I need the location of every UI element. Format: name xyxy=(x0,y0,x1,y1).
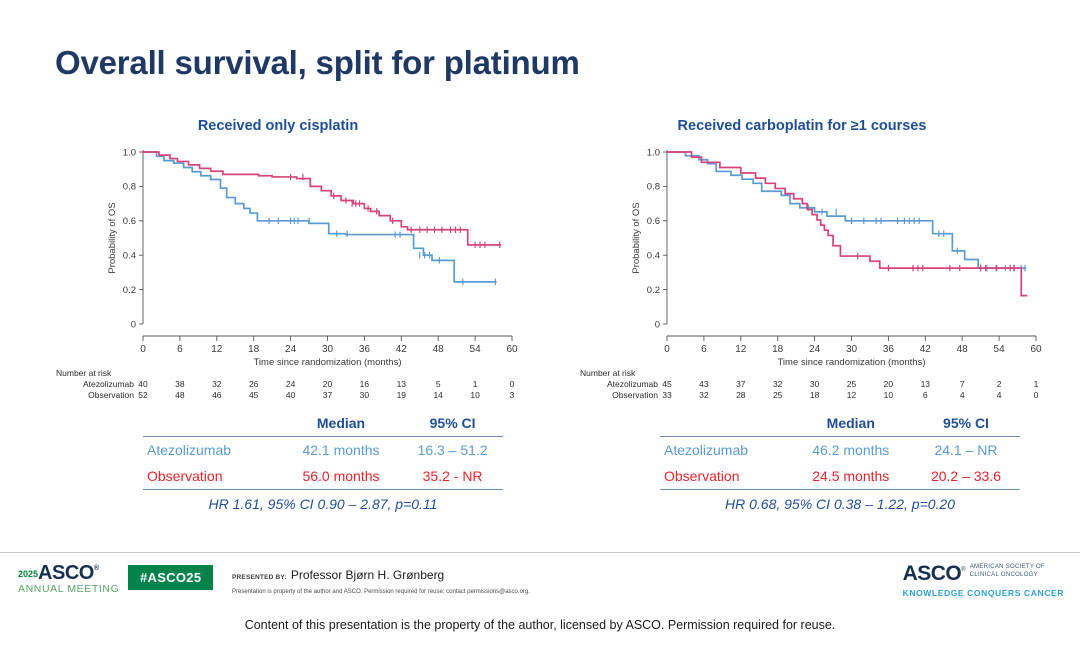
risk-value: 32 xyxy=(692,390,716,400)
stats-median-value: 56.0 months xyxy=(280,463,402,490)
risk-value: 13 xyxy=(913,379,937,389)
y-tick-label: 1.0 xyxy=(123,147,136,158)
risk-value: 3 xyxy=(500,390,524,400)
risk-row-atezolizumab: Atezolizumab 40 38 32 26 24 20 16 13 5 1… xyxy=(18,379,538,390)
hazard-ratio-row: HR 0.68, 95% CI 0.38 – 1.22, p=0.20 xyxy=(660,490,1020,518)
asco-corporate-subtitle: AMERICAN SOCIETY OFCLINICAL ONCOLOGY xyxy=(970,563,1045,579)
risk-value: 26 xyxy=(242,379,266,389)
stats-row-observation: Observation 24.5 months 20.2 – 33.6 xyxy=(660,463,1020,490)
asco-logo-annual-meeting: ANNUAL MEETING xyxy=(18,584,119,595)
panel-title-carboplatin: Received carboplatin for ≥1 courses xyxy=(542,118,1062,134)
risk-value: 14 xyxy=(426,390,450,400)
stats-table-cisplatin: Median 95% CI Atezolizumab 42.1 months 1… xyxy=(143,410,503,517)
x-tick-label: 36 xyxy=(359,344,371,355)
panel-carboplatin: Received carboplatin for ≥1 courses 00.2… xyxy=(542,110,1062,540)
asco-logo-trademark: ® xyxy=(94,565,99,572)
y-tick-label: 0.6 xyxy=(647,216,660,227)
presented-by-block: PRESENTED BY:Professor Bjørn H. Grønberg… xyxy=(232,566,530,595)
risk-value: 0 xyxy=(1024,390,1048,400)
risk-row-observation: Observation 52 48 46 45 40 37 30 19 14 1… xyxy=(18,390,538,401)
risk-value: 46 xyxy=(205,390,229,400)
stats-row-label: Atezolizumab xyxy=(660,437,790,464)
y-tick-label: 0.2 xyxy=(123,285,136,296)
stats-header-row: Median 95% CI xyxy=(143,410,503,437)
stats-row-label: Observation xyxy=(143,463,280,490)
risk-value: 20 xyxy=(316,379,340,389)
x-tick-label: 48 xyxy=(957,344,969,355)
risk-value: 2 xyxy=(987,379,1011,389)
asco-corporate-subtitle-line1: AMERICAN SOCIETY OF xyxy=(970,564,1045,570)
stats-ci-value: 35.2 - NR xyxy=(402,463,503,490)
km-curve-observation xyxy=(143,152,501,245)
risk-value: 4 xyxy=(950,390,974,400)
risk-value: 5 xyxy=(426,379,450,389)
footer: 2025ASCO® ANNUAL MEETING #ASCO25 PRESENT… xyxy=(0,553,1080,609)
hazard-ratio-text: HR 0.68, 95% CI 0.38 – 1.22, p=0.20 xyxy=(660,490,1020,518)
stats-row-label: Atezolizumab xyxy=(143,437,280,464)
risk-value: 20 xyxy=(876,379,900,389)
risk-row-label: Atezolizumab xyxy=(538,379,658,389)
x-tick-label: 24 xyxy=(285,344,297,355)
asco-corporate-subtitle-line2: CLINICAL ONCOLOGY xyxy=(970,572,1038,578)
risk-row-label: Observation xyxy=(538,390,658,400)
asco-corporate-logo-row: ASCO®AMERICAN SOCIETY OFCLINICAL ONCOLOG… xyxy=(903,562,1064,586)
x-axis-label: Time since randomization (months) xyxy=(253,357,401,368)
x-tick-label: 0 xyxy=(664,344,670,355)
x-axis-label: Time since randomization (months) xyxy=(777,357,925,368)
y-axis-label: Probability of OS xyxy=(631,202,642,273)
y-tick-label: 0.2 xyxy=(647,285,660,296)
risk-row-observation: Observation 33 32 28 25 18 12 10 6 4 4 0 xyxy=(542,390,1062,401)
risk-table-header: Number at risk xyxy=(56,368,111,378)
stats-header-ci: 95% CI xyxy=(912,410,1020,437)
risk-row-label: Atezolizumab xyxy=(14,379,134,389)
x-tick-label: 30 xyxy=(846,344,858,355)
panel-title-cisplatin: Received only cisplatin xyxy=(18,118,538,134)
censor-marks-atezolizumab xyxy=(269,218,495,285)
risk-value: 40 xyxy=(131,379,155,389)
stats-median-value: 42.1 months xyxy=(280,437,402,464)
risk-value: 52 xyxy=(131,390,155,400)
km-chart-carboplatin: 00.20.40.60.81.006121824303642485460Time… xyxy=(542,140,1062,375)
risk-value: 48 xyxy=(168,390,192,400)
censor-marks-atezolizumab xyxy=(808,205,1024,272)
bottom-caption: Content of this presentation is the prop… xyxy=(0,618,1080,632)
y-axis-label: Probability of OS xyxy=(107,202,118,273)
stats-row-label: Observation xyxy=(660,463,790,490)
y-tick-label: 0 xyxy=(131,319,136,330)
km-chart-cisplatin: 00.20.40.60.81.006121824303642485460Time… xyxy=(18,140,538,375)
risk-value: 25 xyxy=(840,379,864,389)
x-tick-label: 60 xyxy=(506,344,518,355)
page-title: Overall survival, split for platinum xyxy=(55,44,580,82)
risk-value: 18 xyxy=(803,390,827,400)
risk-value: 10 xyxy=(463,390,487,400)
asco-corporate-trademark: ® xyxy=(961,567,965,573)
stats-row-atezolizumab: Atezolizumab 46.2 months 24.1 – NR xyxy=(660,437,1020,464)
permission-note: Presentation is property of the author a… xyxy=(232,589,530,595)
stats-median-value: 46.2 months xyxy=(790,437,912,464)
risk-value: 45 xyxy=(242,390,266,400)
km-plot-cisplatin: 00.20.40.60.81.006121824303642485460Time… xyxy=(18,140,538,375)
asco-logo-year: 2025 xyxy=(18,569,38,579)
asco-tagline: KNOWLEDGE CONQUERS CANCER xyxy=(903,588,1064,598)
asco-annual-meeting-logo: 2025ASCO® ANNUAL MEETING xyxy=(18,563,119,595)
x-tick-label: 12 xyxy=(735,344,747,355)
risk-value: 32 xyxy=(766,379,790,389)
km-curve-atezolizumab xyxy=(143,152,497,282)
risk-value: 38 xyxy=(168,379,192,389)
x-tick-label: 48 xyxy=(433,344,445,355)
risk-value: 16 xyxy=(352,379,376,389)
stats-header-median: Median xyxy=(280,410,402,437)
presented-by-line: PRESENTED BY:Professor Bjørn H. Grønberg xyxy=(232,566,530,584)
x-tick-label: 18 xyxy=(248,344,260,355)
risk-value: 37 xyxy=(729,379,753,389)
risk-value: 30 xyxy=(803,379,827,389)
x-tick-label: 42 xyxy=(920,344,932,355)
risk-value: 24 xyxy=(279,379,303,389)
stats-median-value: 24.5 months xyxy=(790,463,912,490)
risk-value: 1 xyxy=(1024,379,1048,389)
x-tick-label: 30 xyxy=(322,344,334,355)
panel-cisplatin: Received only cisplatin 00.20.40.60.81.0… xyxy=(18,110,538,540)
x-tick-label: 6 xyxy=(701,344,707,355)
risk-value: 7 xyxy=(950,379,974,389)
x-tick-label: 12 xyxy=(211,344,223,355)
km-curve-observation xyxy=(667,152,1027,296)
risk-value: 0 xyxy=(500,379,524,389)
y-tick-label: 0 xyxy=(655,319,660,330)
risk-value: 12 xyxy=(840,390,864,400)
risk-value: 37 xyxy=(316,390,340,400)
stats-header-blank xyxy=(143,410,280,437)
stats-row-atezolizumab: Atezolizumab 42.1 months 16.3 – 51.2 xyxy=(143,437,503,464)
risk-value: 4 xyxy=(987,390,1011,400)
asco-logo-year-row: 2025ASCO® xyxy=(18,563,119,583)
risk-value: 43 xyxy=(692,379,716,389)
stats-header-ci: 95% CI xyxy=(402,410,503,437)
risk-value: 19 xyxy=(389,390,413,400)
stats-ci-value: 16.3 – 51.2 xyxy=(402,437,503,464)
presented-by-label: PRESENTED BY: xyxy=(232,574,287,581)
x-tick-label: 54 xyxy=(994,344,1006,355)
risk-value: 30 xyxy=(352,390,376,400)
hashtag-badge: #ASCO25 xyxy=(128,565,213,590)
risk-value: 13 xyxy=(389,379,413,389)
y-tick-label: 0.8 xyxy=(123,182,136,193)
risk-row-label: Observation xyxy=(14,390,134,400)
risk-table-header: Number at risk xyxy=(580,368,635,378)
y-tick-label: 0.6 xyxy=(123,216,136,227)
stats-ci-value: 20.2 – 33.6 xyxy=(912,463,1020,490)
x-tick-label: 24 xyxy=(809,344,821,355)
risk-value: 45 xyxy=(655,379,679,389)
x-tick-label: 6 xyxy=(177,344,183,355)
risk-row-atezolizumab: Atezolizumab 45 43 37 32 30 25 20 13 7 2… xyxy=(542,379,1062,390)
stats-table-carboplatin: Median 95% CI Atezolizumab 46.2 months 2… xyxy=(660,410,1020,517)
stats-header-row: Median 95% CI xyxy=(660,410,1020,437)
presenter-name: Professor Bjørn H. Grønberg xyxy=(291,568,444,582)
y-tick-label: 0.4 xyxy=(647,251,660,262)
stats-header-blank xyxy=(660,410,790,437)
stats-header-median: Median xyxy=(790,410,912,437)
risk-value: 10 xyxy=(876,390,900,400)
y-tick-label: 0.8 xyxy=(647,182,660,193)
km-plot-carboplatin: 00.20.40.60.81.006121824303642485460Time… xyxy=(542,140,1062,375)
x-tick-label: 60 xyxy=(1030,344,1042,355)
risk-value: 33 xyxy=(655,390,679,400)
risk-value: 28 xyxy=(729,390,753,400)
stats-row-observation: Observation 56.0 months 35.2 - NR xyxy=(143,463,503,490)
asco-logo-word: ASCO xyxy=(38,562,94,584)
y-tick-label: 0.4 xyxy=(123,251,136,262)
risk-value: 40 xyxy=(279,390,303,400)
x-tick-label: 0 xyxy=(140,344,146,355)
asco-corporate-logo: ASCO®AMERICAN SOCIETY OFCLINICAL ONCOLOG… xyxy=(903,562,1064,598)
hazard-ratio-row: HR 1.61, 95% CI 0.90 – 2.87, p=0.11 xyxy=(143,490,503,518)
risk-value: 25 xyxy=(766,390,790,400)
x-tick-label: 42 xyxy=(396,344,408,355)
risk-value: 1 xyxy=(463,379,487,389)
y-tick-label: 1.0 xyxy=(647,147,660,158)
asco-corporate-word: ASCO xyxy=(903,562,962,585)
x-tick-label: 36 xyxy=(883,344,895,355)
stats-ci-value: 24.1 – NR xyxy=(912,437,1020,464)
risk-value: 32 xyxy=(205,379,229,389)
x-tick-label: 18 xyxy=(772,344,784,355)
risk-value: 6 xyxy=(913,390,937,400)
hazard-ratio-text: HR 1.61, 95% CI 0.90 – 2.87, p=0.11 xyxy=(143,490,503,518)
x-tick-label: 54 xyxy=(470,344,482,355)
km-curve-atezolizumab xyxy=(667,152,1026,268)
